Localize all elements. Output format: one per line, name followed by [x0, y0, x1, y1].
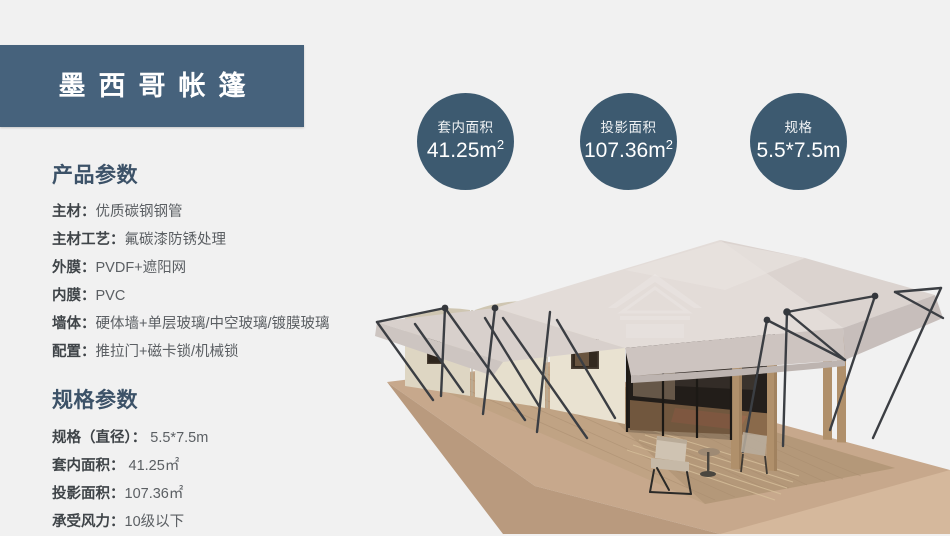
stat-badge-superscript: 2 [666, 137, 673, 152]
stat-badge-unit: m [479, 139, 497, 162]
spec-value: PVDF+遮阳网 [96, 260, 187, 276]
spec-label: 内膜： [52, 288, 96, 304]
spec-label: 外膜： [52, 260, 96, 276]
spec-value: 107.36㎡ [125, 486, 184, 502]
spec-row: 规格（直径）： 5.5*7.5m [52, 424, 382, 452]
spec-row: 内膜：PVC [52, 282, 382, 310]
spec-row: 套内面积： 41.25㎡ [52, 452, 382, 480]
spec-label: 规格（直径）： [52, 430, 146, 446]
spec-value: 优质碳钢钢管 [96, 204, 183, 220]
spec-row: 墙体：硬体墙+单层玻璃/中空玻璃/镀膜玻璃 [52, 310, 382, 338]
stat-badge-label: 套内面积 [438, 121, 494, 136]
product-render-image [375, 200, 950, 534]
stat-badge-number: 41.25 [427, 139, 480, 162]
spec-label: 配置： [52, 344, 96, 360]
spec-label: 承受风力： [52, 514, 125, 530]
spec-row: 承受风力：10级以下 [52, 508, 382, 536]
tent-villa-illustration [375, 200, 950, 534]
title-banner: 墨西哥帐篷 [0, 45, 304, 127]
specification-column: 产品参数 主材：优质碳钢钢管 主材工艺：氟碳漆防锈处理 外膜：PVDF+遮阳网 … [52, 163, 382, 536]
spec-value: PVC [96, 288, 126, 304]
section-product-parameters: 产品参数 主材：优质碳钢钢管 主材工艺：氟碳漆防锈处理 外膜：PVDF+遮阳网 … [52, 163, 382, 366]
stat-badge-label: 投影面积 [601, 121, 657, 136]
spec-value: 推拉门+磁卡锁/机械锁 [96, 344, 239, 360]
spec-value: 氟碳漆防锈处理 [125, 232, 227, 248]
stat-badge-unit: m [648, 139, 666, 162]
stat-badge-dimensions: 规格 5.5*7.5m [750, 93, 847, 190]
spec-value: 41.25㎡ [125, 458, 180, 474]
section-heading: 产品参数 [52, 163, 382, 189]
stat-badge-projected-area: 投影面积 107.36m2 [580, 93, 677, 190]
spec-row: 主材工艺：氟碳漆防锈处理 [52, 226, 382, 254]
stat-badge-number: 5.5*7.5m [756, 139, 840, 162]
spec-label: 主材： [52, 204, 96, 220]
stat-badge-value: 107.36m2 [584, 140, 673, 162]
section-specification-parameters: 规格参数 规格（直径）： 5.5*7.5m 套内面积： 41.25㎡ 投影面积：… [52, 388, 382, 535]
spec-row: 主材：优质碳钢钢管 [52, 198, 382, 226]
spec-value: 硬体墙+单层玻璃/中空玻璃/镀膜玻璃 [96, 316, 330, 332]
spec-row: 配置：推拉门+磁卡锁/机械锁 [52, 338, 382, 366]
spec-label: 套内面积： [52, 458, 125, 474]
spec-label: 投影面积： [52, 486, 125, 502]
stat-badge-label: 规格 [785, 121, 813, 136]
spec-value: 10级以下 [125, 514, 185, 530]
page-title: 墨西哥帐篷 [46, 73, 259, 100]
section-heading: 规格参数 [52, 388, 382, 414]
stat-badge-value: 5.5*7.5m [756, 140, 840, 162]
stat-badge-interior-area: 套内面积 41.25m2 [417, 93, 514, 190]
stat-badge-value: 41.25m2 [427, 140, 504, 162]
slide-canvas: 墨西哥帐篷 产品参数 主材：优质碳钢钢管 主材工艺：氟碳漆防锈处理 外膜：PVD… [0, 0, 950, 534]
stat-badge-number: 107.36 [584, 139, 648, 162]
spec-label: 主材工艺： [52, 232, 125, 248]
spec-row: 外膜：PVDF+遮阳网 [52, 254, 382, 282]
spec-label: 墙体： [52, 316, 96, 332]
stat-badge-superscript: 2 [497, 137, 504, 152]
spec-value: 5.5*7.5m [146, 430, 208, 446]
spec-row: 投影面积：107.36㎡ [52, 480, 382, 508]
